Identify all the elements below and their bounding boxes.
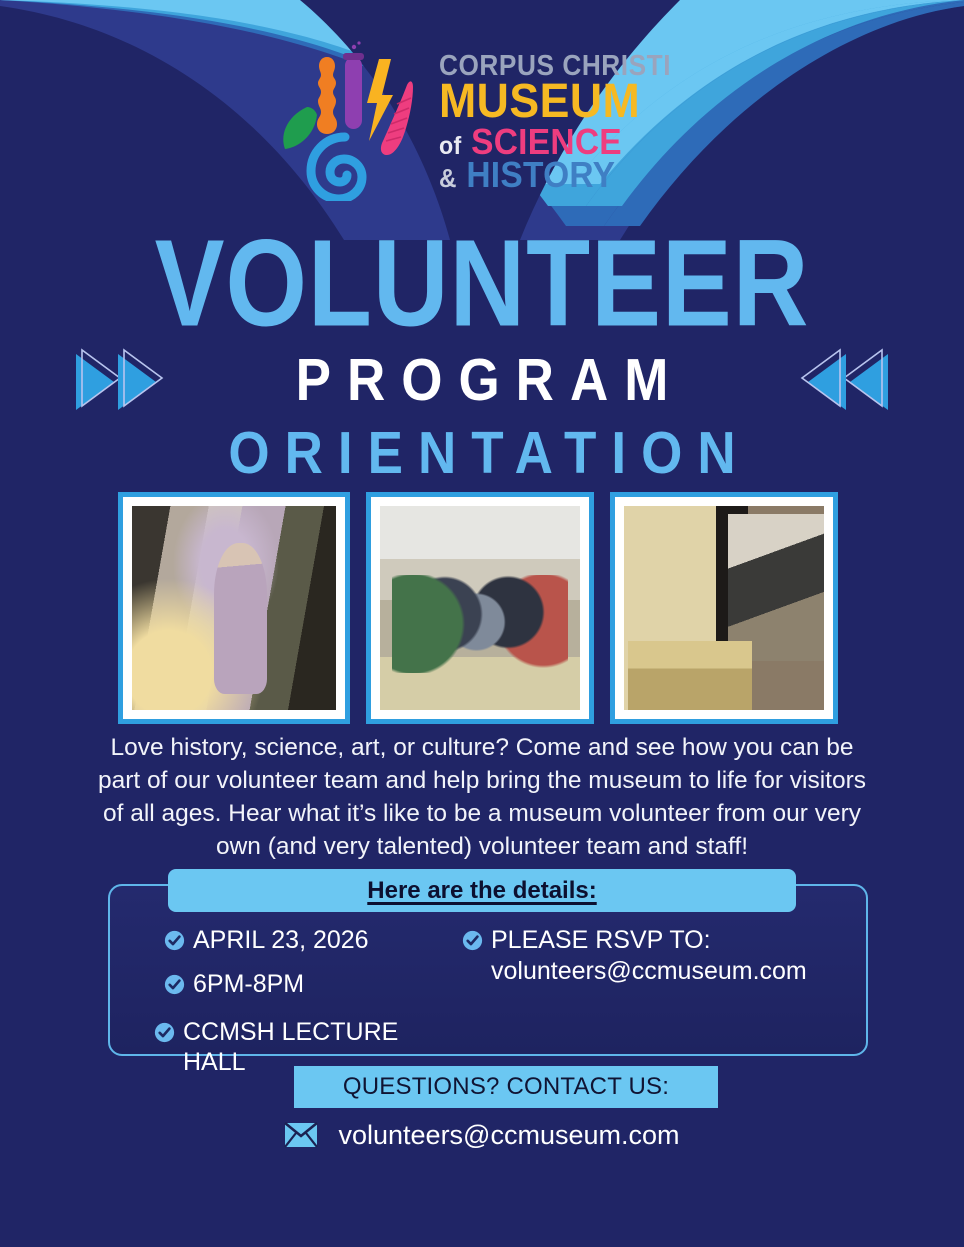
detail-text-rsvp-email[interactable]: volunteers@ccmuseum.com (491, 955, 807, 987)
questions-banner-text: QUESTIONS? CONTACT US: (343, 1073, 669, 1101)
logo-line-and-history: & HISTORY (439, 158, 674, 191)
detail-text-venue: CCMSH LECTURE HALL (183, 1017, 438, 1077)
photo-image (132, 506, 336, 710)
detail-row-time: 6PM-8PM (164, 969, 438, 999)
museum-logo-mark-icon (273, 41, 423, 201)
spiral-icon (311, 137, 362, 199)
rsvp-text-stack: PLEASE RSVP TO: volunteers@ccmuseum.com (491, 925, 807, 987)
double-right-arrow-decoration (74, 348, 164, 416)
museum-logo: CORPUS CHRISTI MUSEUM of SCIENCE & HISTO… (0, 38, 964, 203)
contact-row: volunteers@ccmuseum.com (0, 1113, 964, 1157)
museum-wordmark: CORPUS CHRISTI MUSEUM of SCIENCE & HISTO… (439, 49, 691, 191)
check-circle-icon (154, 1022, 175, 1043)
check-circle-icon (462, 930, 483, 951)
shell-spire-icon (381, 81, 413, 155)
detail-text-time: 6PM-8PM (193, 969, 304, 999)
photo-mat (123, 497, 345, 719)
logo-line-of-science: of SCIENCE (439, 125, 674, 158)
leaf-icon (283, 107, 317, 149)
logo-word-history: HISTORY (466, 154, 615, 195)
details-banner: Here are the details: (168, 869, 796, 912)
photo-image (624, 506, 824, 710)
detail-row-date: APRIL 23, 2026 (164, 925, 438, 955)
page-subtitle-orientation: ORIENTATION (0, 424, 964, 483)
page-title: VOLUNTEER (14, 222, 949, 345)
check-circle-icon (164, 930, 185, 951)
detail-text-date: APRIL 23, 2026 (193, 925, 369, 955)
details-column-left: APRIL 23, 2026 6PM-8PM (108, 925, 438, 1055)
test-tube-icon (343, 41, 364, 129)
details-banner-text: Here are the details: (367, 877, 596, 905)
logo-word-ampersand: & (439, 163, 457, 193)
detail-row-rsvp: PLEASE RSVP TO: volunteers@ccmuseum.com (462, 925, 868, 987)
photo-volunteer-speaking (118, 492, 350, 724)
envelope-icon (284, 1122, 318, 1148)
logo-line-museum: MUSEUM (439, 80, 674, 125)
check-circle-icon (164, 974, 185, 995)
detail-text-rsvp-label: PLEASE RSVP TO: (491, 925, 807, 955)
flyer-poster: CORPUS CHRISTI MUSEUM of SCIENCE & HISTO… (0, 0, 964, 1247)
double-left-arrow-decoration (800, 348, 890, 416)
details-content: APRIL 23, 2026 6PM-8PM (108, 925, 868, 1055)
photo-image (380, 506, 580, 710)
body-paragraph: Love history, science, art, or culture? … (92, 731, 872, 863)
photo-strip (118, 492, 846, 724)
photo-mat (615, 497, 833, 719)
contact-email[interactable]: volunteers@ccmuseum.com (338, 1120, 679, 1151)
detail-row-venue: CCMSH LECTURE HALL (154, 1017, 438, 1077)
photo-volunteer-specimen-drawers (610, 492, 838, 724)
details-column-right: PLEASE RSVP TO: volunteers@ccmuseum.com (438, 925, 868, 1055)
photo-mat (371, 497, 589, 719)
photo-volunteer-team-group (366, 492, 594, 724)
artifact-icon (317, 57, 337, 134)
